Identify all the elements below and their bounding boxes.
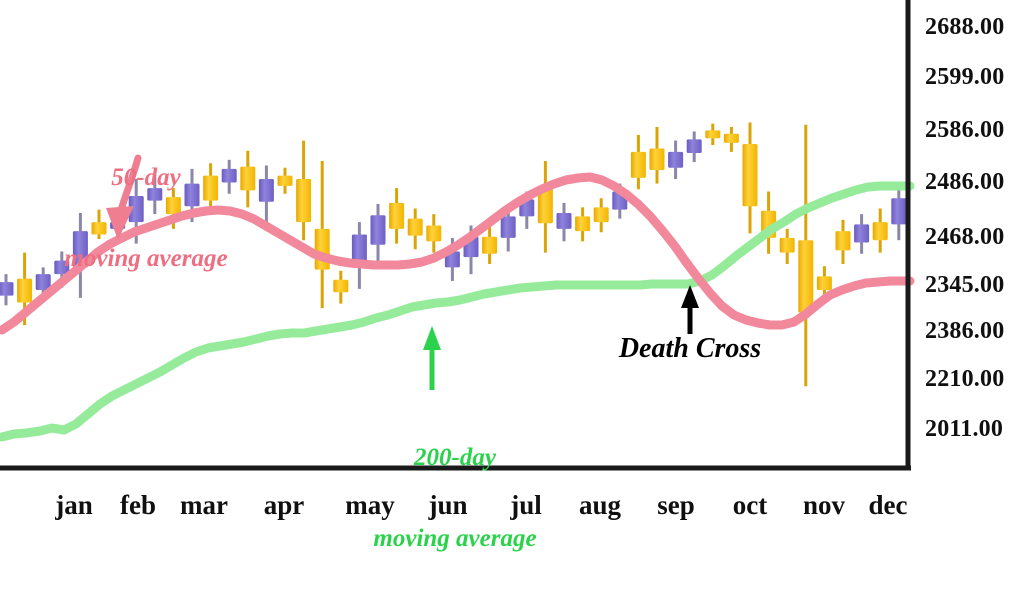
ma200-annotation-label: 200-day moving average (373, 390, 536, 606)
y-axis-tick-label: 2011.00 (925, 416, 1003, 443)
y-axis-tick-label: 2586.00 (925, 117, 1004, 144)
y-axis-tick-label: 2386.00 (925, 318, 1004, 345)
candle-body-down (371, 215, 386, 244)
x-axis-tick-label: oct (733, 490, 767, 521)
candle-body-up (333, 280, 348, 292)
candle-body-up (315, 229, 330, 270)
candle-body-up (594, 207, 609, 222)
ma50-label-line1: 50-day (64, 164, 227, 191)
y-axis-tick-label: 2688.00 (925, 14, 1004, 41)
candle-body-up (650, 148, 665, 170)
x-axis-tick-label: sep (657, 490, 695, 521)
y-axis-tick-label: 2468.00 (925, 224, 1004, 251)
x-axis-tick-label: dec (869, 490, 908, 521)
candle-body-up (482, 237, 497, 254)
candle-body-up (798, 240, 813, 312)
y-axis-tick-label: 2210.00 (925, 366, 1004, 393)
death-cross-annotation-arrow (681, 285, 699, 334)
candle-body-up (426, 225, 441, 241)
x-axis-tick-label: nov (803, 490, 845, 521)
y-axis-tick-label: 2486.00 (925, 169, 1004, 196)
candle-body-up (705, 130, 720, 138)
candle-body-down (501, 216, 516, 238)
x-axis-tick-label: jan (55, 490, 93, 521)
candle-body-down (854, 224, 869, 242)
candle-body-up (836, 231, 851, 250)
ma200-annotation-arrow (423, 326, 441, 390)
candle-body-down (259, 179, 274, 202)
ma50-label-line2: moving average (64, 245, 227, 272)
candle-body-up (17, 279, 32, 303)
candle-body-down (0, 282, 14, 296)
candle-body-up (724, 134, 739, 143)
candle-body-up (408, 219, 423, 236)
ma200-label-line1: 200-day (373, 444, 536, 471)
y-axis-tick-label: 2345.00 (925, 272, 1004, 299)
x-axis-tick-label: feb (120, 490, 156, 521)
candle-body-up (631, 152, 646, 178)
candle-body-up (389, 203, 404, 229)
candle-body-up (575, 216, 590, 231)
candle-body-up (873, 222, 888, 240)
ma50-annotation-label: 50-day moving average (64, 110, 227, 326)
candle-body-up (240, 167, 255, 191)
candle-body-down (687, 139, 702, 153)
candle-body-down (668, 152, 683, 168)
candle-body-up (296, 179, 311, 222)
candlestick-chart: 2688.002599.002586.002486.002468.002345.… (0, 0, 1024, 550)
death-cross-label: Death Cross (619, 334, 761, 364)
candle-body-up (780, 238, 795, 253)
candle-body-up (278, 176, 293, 186)
ma200-label-line2: moving average (373, 525, 536, 552)
candle-body-down (891, 198, 906, 224)
y-axis-tick-label: 2599.00 (925, 64, 1004, 91)
candle-body-up (817, 276, 832, 290)
candle-body-up (743, 144, 758, 206)
x-axis-tick-label: mar (180, 490, 228, 521)
x-axis-tick-label: aug (579, 490, 621, 521)
x-axis-tick-label: apr (264, 490, 305, 521)
candle-body-down (557, 213, 572, 229)
